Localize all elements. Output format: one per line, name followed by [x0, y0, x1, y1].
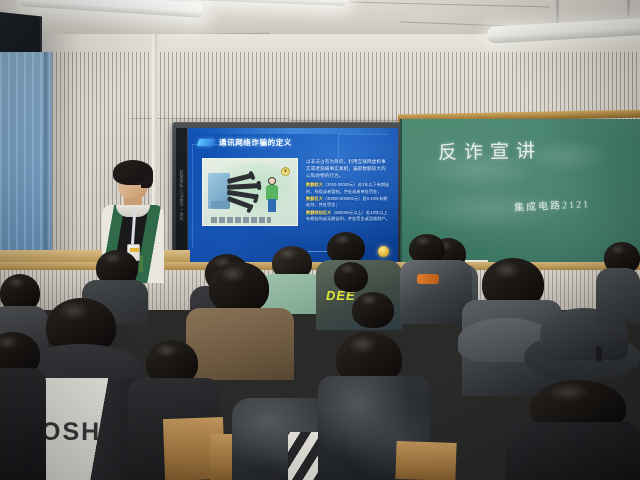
- light-stem: [556, 0, 559, 24]
- slide-penalty-row: 数额特别巨大（500000元以上）处10年以上有期徒刑或无期徒刑，并处罚金或没收…: [306, 210, 390, 223]
- slide-title-chip-icon: [197, 139, 216, 146]
- illustration-coin-icon: ¥: [281, 167, 290, 176]
- chalkboard-headline: 反诈宣讲: [438, 136, 542, 165]
- student-head: [334, 262, 368, 292]
- slide-penalty-rows: 数额较大（3000-30000元）处3年以下有期徒刑、拘役或者管制，并处或者单处…: [306, 182, 390, 222]
- jacket-orange-accent: [417, 274, 439, 284]
- slide-decoration-line: [338, 134, 388, 135]
- illustration-victim: [265, 177, 279, 213]
- illustration-finger: [257, 181, 262, 190]
- hat-cord: [596, 346, 602, 362]
- student-torso: [596, 268, 640, 324]
- slide-penalty-row: 数额巨大（30000-500000元）处3-10年有期徒刑，并处罚金；: [306, 196, 390, 209]
- slide-penalty-label: 数额特别巨大: [306, 210, 331, 215]
- slide-title-row: 通讯网络诈骗的定义: [198, 137, 292, 148]
- chalkboard-subline: 集成电路2121: [514, 195, 591, 214]
- illustration-victim-body: [266, 185, 278, 200]
- student-torso: [186, 308, 294, 380]
- slide-penalty-row: 数额较大（3000-30000元）处3年以下有期徒刑、拘役或者管制，并处或者单处…: [306, 182, 390, 195]
- slide-penalty-label: 数额巨大: [306, 196, 323, 201]
- student-head: [209, 262, 269, 314]
- seated-students: DEE WOOSH: [0, 236, 640, 480]
- slide-body-text: 以非法占有为目的，利用互联网虚构事实或者隐瞒事实真相，骗取数额较大的公私财物的行…: [306, 158, 390, 179]
- slide-decoration-line: [192, 144, 193, 248]
- student-torso: [506, 422, 640, 480]
- student-torso: [0, 368, 46, 480]
- slide-title: 通讯网络诈骗的定义: [219, 137, 292, 148]
- light-stem: [627, 0, 630, 16]
- ceiling-seam: [350, 2, 550, 8]
- student-head: [352, 292, 394, 328]
- illustration-victim-head: [268, 177, 276, 185]
- illustration-caption: [211, 217, 271, 223]
- slide-decoration-line: [338, 134, 339, 158]
- wall-panel-joint: [290, 120, 405, 121]
- classroom-photo-scene: 智慧黑板 互动教学一体机 通讯网络诈骗的定义: [0, 0, 640, 480]
- slide-penalty-label: 数额较大: [306, 182, 323, 187]
- illustration-victim-legs: [268, 199, 276, 212]
- fraud-illustration: ¥: [202, 158, 298, 226]
- glasses-icon: [130, 182, 150, 187]
- desk: [395, 441, 456, 480]
